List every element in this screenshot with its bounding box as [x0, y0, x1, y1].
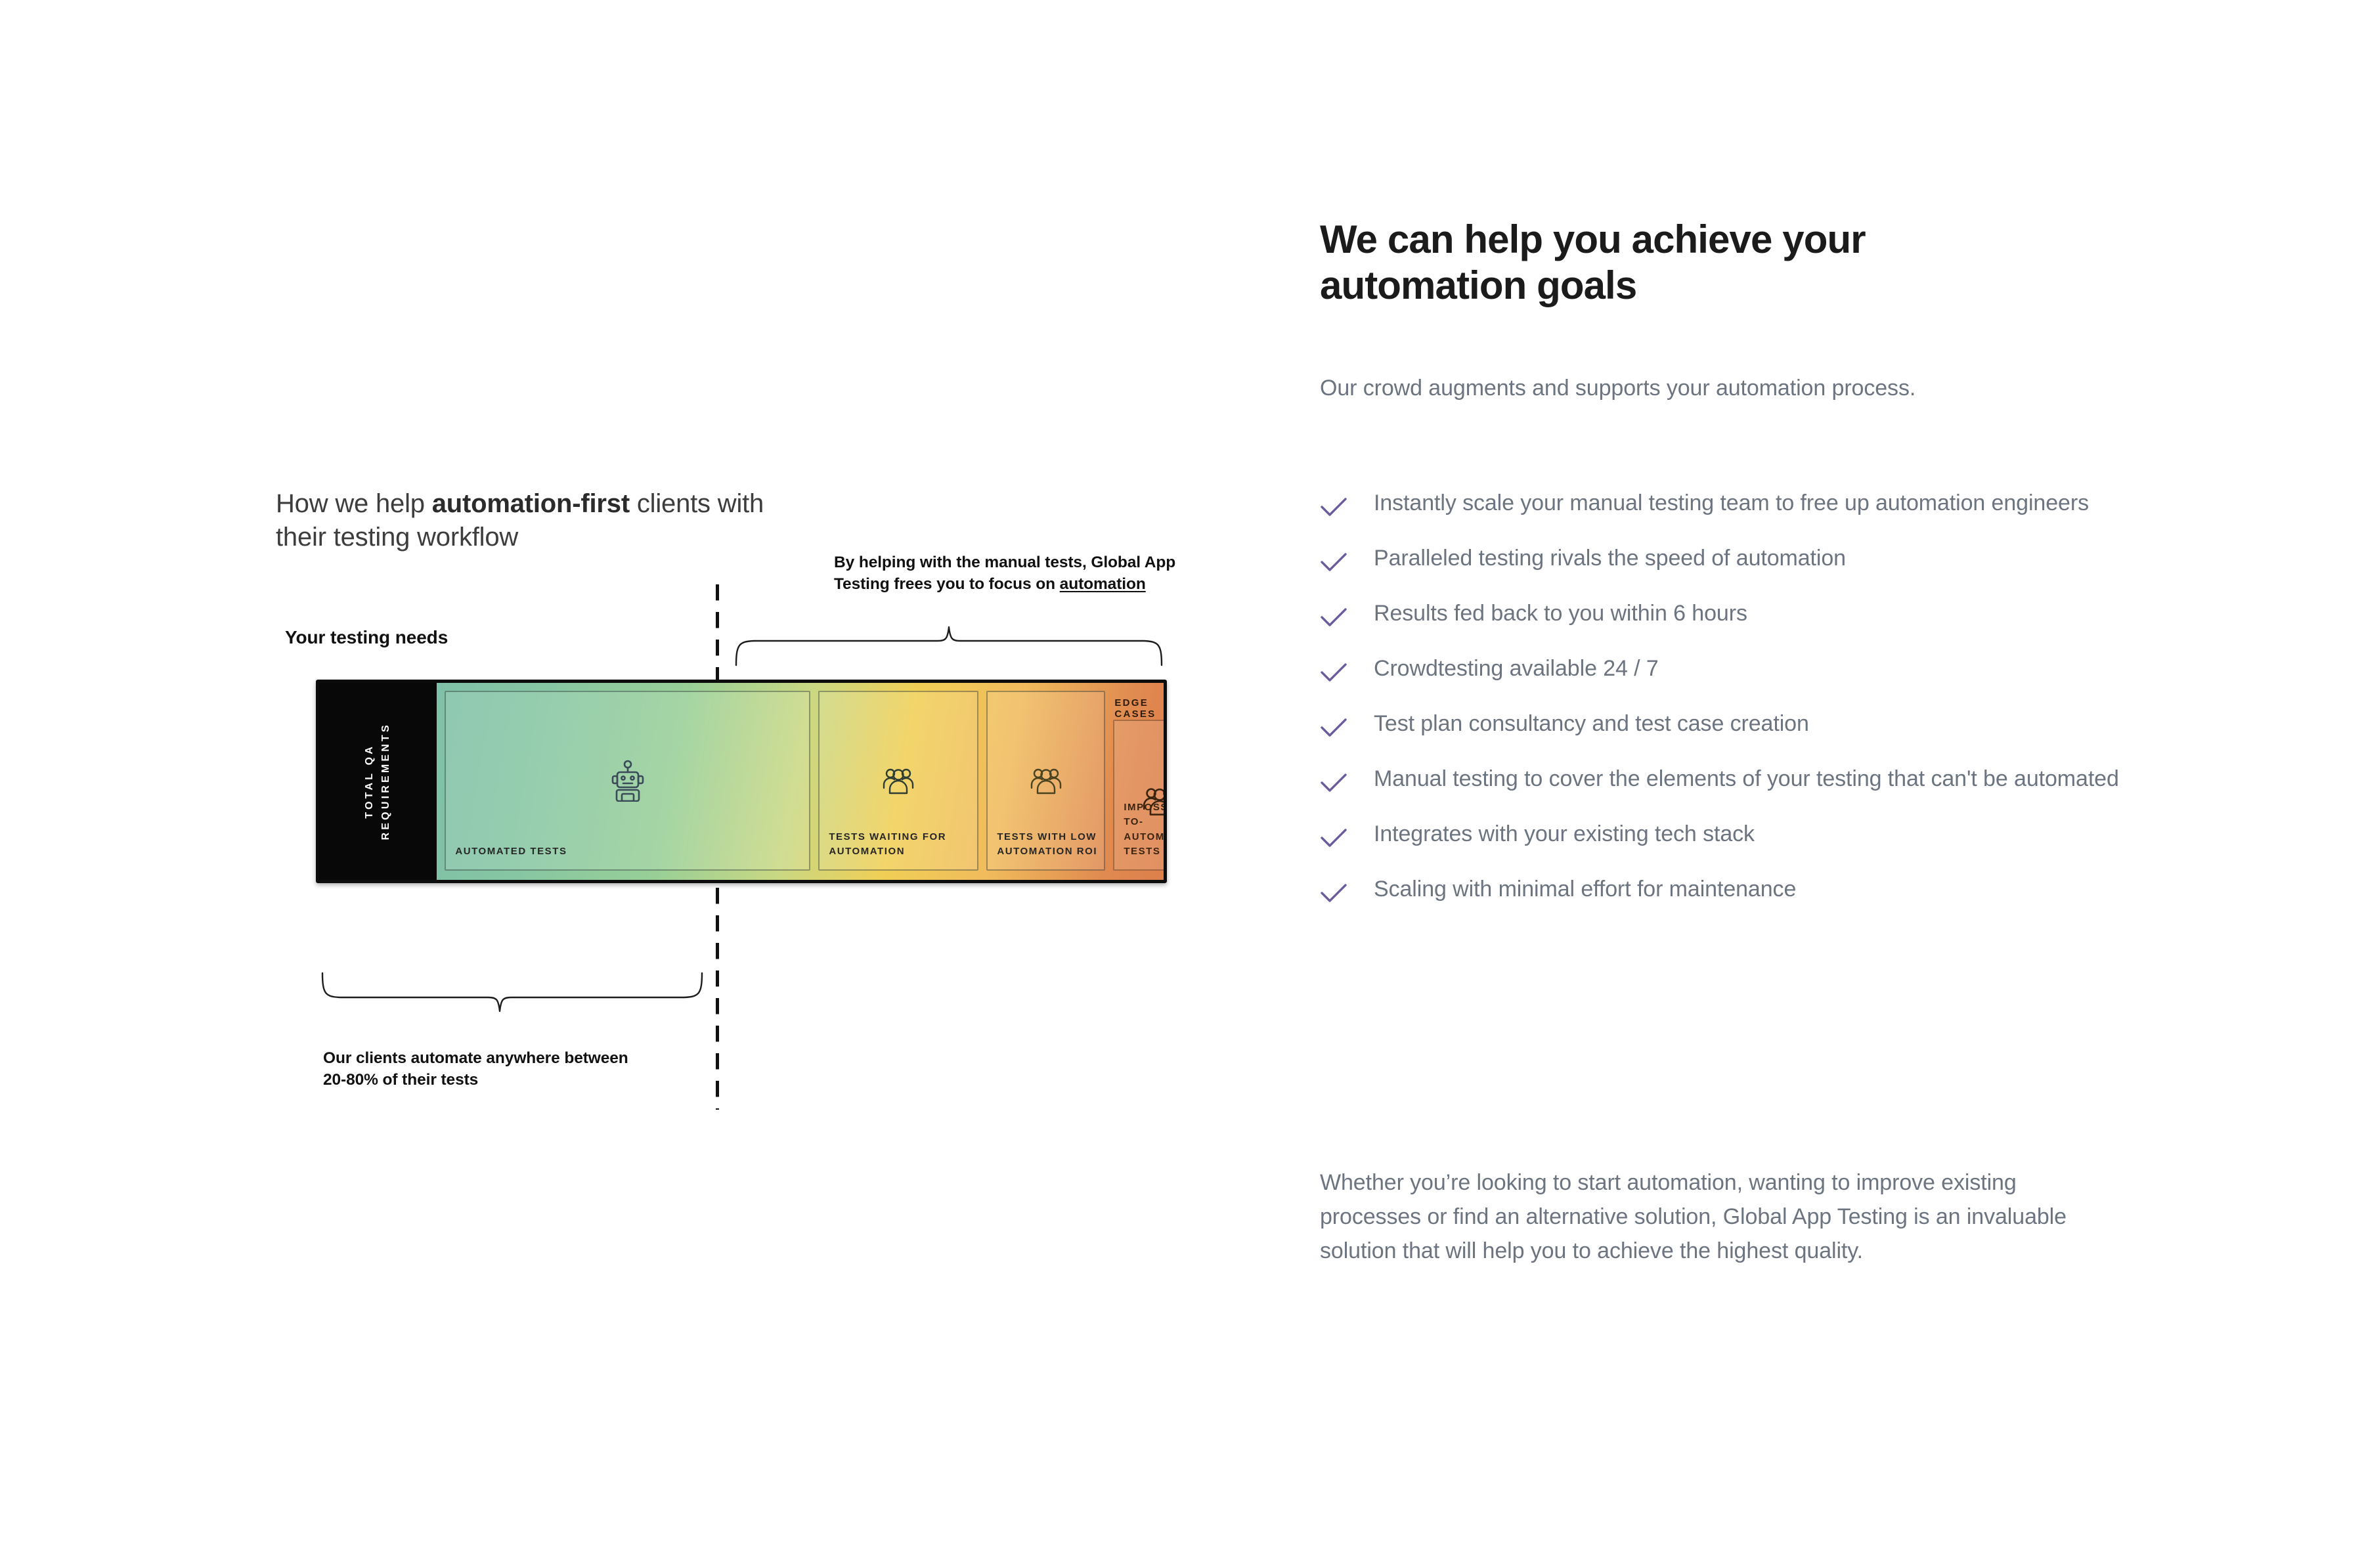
infographic-title: How we help automation-first clients wit… — [276, 487, 814, 554]
list-item: Manual testing to cover the elements of … — [1320, 762, 2128, 796]
check-icon — [1320, 825, 1347, 846]
list-item-label: Results fed back to you within 6 hours — [1374, 601, 1747, 626]
check-icon — [1320, 714, 1347, 735]
page-title: We can help you achieve your automation … — [1320, 217, 2062, 308]
manual-tests-note-line2: Testing frees you to focus on — [834, 575, 1060, 593]
manual-tests-note-line1: By helping with the manual tests, Global… — [834, 554, 1175, 571]
segment-tests-waiting-for-automation[interactable]: TESTS WAITING FOR AUTOMATION — [818, 691, 978, 871]
segment-automated-tests[interactable]: AUTOMATED TESTS — [445, 691, 810, 871]
automation-underline-word: automation — [1060, 575, 1146, 593]
list-item: Test plan consultancy and test case crea… — [1320, 707, 2128, 741]
check-icon — [1320, 494, 1347, 515]
total-qa-requirements-label: TOTAL QAREQUIREMENTS — [362, 722, 395, 840]
infographic-title-bold: automation-first — [432, 489, 630, 518]
total-qa-requirements-panel: TOTAL QAREQUIREMENTS — [319, 683, 437, 880]
list-item-label: Test plan consultancy and test case crea… — [1374, 711, 1809, 736]
list-item-label: Instantly scale your manual testing team… — [1374, 490, 2089, 515]
segment-automated-tests-label: AUTOMATED TESTS — [446, 844, 809, 859]
segment-tests-waiting-for-automation-label: TESTS WAITING FOR AUTOMATION — [820, 830, 977, 859]
people-icon — [820, 767, 977, 795]
list-item: Integrates with your existing tech stack — [1320, 817, 2128, 851]
list-item-label: Integrates with your existing tech stack — [1374, 821, 1755, 846]
list-item: Crowdtesting available 24 / 7 — [1320, 651, 2128, 686]
testing-workflow-infographic: How we help automation-first clients wit… — [0, 0, 1248, 1568]
segment-impossible-to-automate-tests[interactable]: EDGE CASES — [1113, 720, 1167, 871]
list-item: Paralleled testing rivals the speed of a… — [1320, 541, 2128, 575]
list-item-label: Manual testing to cover the elements of … — [1374, 766, 2119, 791]
qa-requirements-bar: TOTAL QAREQUIREMENTS — [316, 680, 1167, 883]
benefits-list: Instantly scale your manual testing team… — [1320, 486, 2128, 927]
manual-tests-note: By helping with the manual tests, Global… — [834, 552, 1189, 595]
list-item-label: Crowdtesting available 24 / 7 — [1374, 656, 1659, 681]
list-item-label: Paralleled testing rivals the speed of a… — [1374, 546, 1846, 571]
check-icon — [1320, 770, 1347, 791]
segment-tests-with-low-automation-roi[interactable]: TESTS WITH LOW AUTOMATION ROI — [986, 691, 1105, 871]
segment-tests-with-low-automation-roi-label: TESTS WITH LOW AUTOMATION ROI — [988, 830, 1104, 859]
robot-icon — [446, 760, 809, 802]
manual-side-bracket-icon — [734, 626, 1164, 666]
check-icon — [1320, 659, 1347, 680]
edge-cases-label: EDGE CASES — [1114, 697, 1167, 720]
list-item: Instantly scale your manual testing team… — [1320, 486, 2128, 520]
your-testing-needs-label: Your testing needs — [285, 627, 448, 648]
check-icon — [1320, 549, 1347, 570]
list-item: Results fed back to you within 6 hours — [1320, 596, 2128, 630]
automation-range-caption: Our clients automate anywhere between 20… — [323, 1047, 632, 1091]
list-item: Scaling with minimal effort for maintena… — [1320, 872, 2128, 906]
closing-paragraph: Whether you’re looking to start automati… — [1320, 1165, 2118, 1268]
edge-cases-tag: EDGE CASES — [1114, 697, 1167, 720]
list-item-label: Scaling with minimal effort for maintena… — [1374, 877, 1796, 902]
automation-side-bracket-icon — [320, 972, 704, 1013]
people-icon — [988, 767, 1104, 795]
bar-segments: AUTOMATED TESTS TESTS WA — [437, 683, 1167, 880]
check-icon — [1320, 604, 1347, 625]
people-icon — [1114, 786, 1167, 816]
page-root: How we help automation-first clients wit… — [0, 0, 2364, 1568]
infographic-title-prefix: How we help — [276, 489, 432, 518]
check-icon — [1320, 880, 1347, 901]
lead-paragraph: Our crowd augments and supports your aut… — [1320, 371, 2075, 405]
